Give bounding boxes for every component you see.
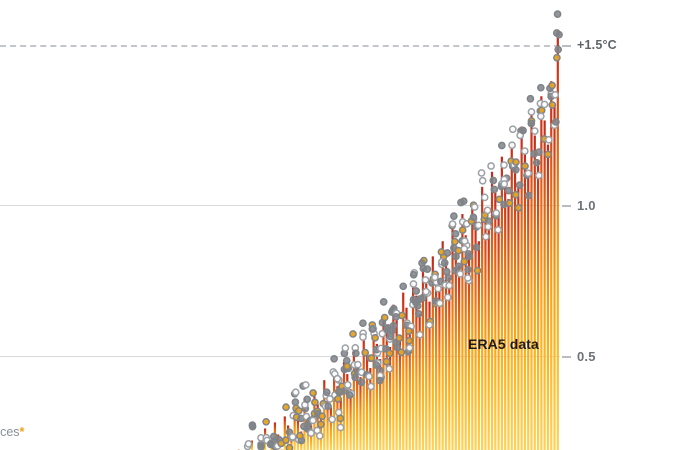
data-point-marker [554,30,560,36]
data-point-marker [263,419,269,425]
data-point-marker [507,200,513,206]
data-point-marker [290,434,296,440]
data-point-marker [444,269,450,275]
data-point-marker [432,274,438,280]
data-point-marker [491,186,497,192]
data-point-marker [490,177,496,183]
data-point-marker [318,421,324,427]
data-point-marker [528,120,534,126]
data-point-marker [549,82,555,88]
data-point-marker [538,85,544,91]
data-point-marker [536,172,542,178]
data-point-marker [372,335,378,341]
data-point-marker [451,213,457,219]
data-point-marker [386,366,392,372]
data-point-marker [538,113,544,119]
data-point-marker [329,416,335,422]
bar [438,290,440,450]
data-point-marker [465,275,471,281]
data-point-marker [368,383,374,389]
bar [507,199,509,450]
data-point-marker [484,207,490,213]
bar [484,208,486,450]
data-point-marker [513,167,519,173]
data-point-marker [292,399,298,405]
data-point-marker [499,142,505,148]
data-point-marker [360,334,366,340]
data-point-marker [417,332,423,338]
data-point-marker [424,266,430,272]
data-point-marker [337,415,343,421]
data-point-marker [368,355,374,361]
data-point-marker [426,322,432,328]
data-point-marker [310,417,316,423]
data-point-marker [475,222,481,228]
data-point-marker [546,137,552,143]
data-point-marker [406,328,412,334]
data-point-marker [527,96,533,102]
chart-figure: +1.5°C 1.0 0.5 ERA5 data ources* [0,0,675,450]
data-point-marker [488,163,494,169]
bar [517,187,519,450]
data-point-marker [449,221,455,227]
data-point-marker [534,160,540,166]
data-point-marker [344,363,350,369]
bar [498,214,500,450]
data-point-marker [515,205,521,211]
data-point-marker [480,178,486,184]
tick-dash-1-0 [562,205,571,207]
data-point-marker [423,289,429,295]
data-point-marker [520,127,526,133]
data-point-marker [296,408,302,414]
tick-dash-0-5 [562,356,571,358]
tick-dash-1-5c [562,45,571,47]
data-point-marker [387,350,393,356]
data-point-marker [335,396,341,402]
data-point-marker [501,162,507,168]
bar [455,247,457,450]
data-point-marker [545,151,551,157]
data-point-marker [317,433,323,439]
data-point-marker [456,263,462,269]
data-point-marker [369,326,375,332]
data-point-marker [334,376,340,382]
data-point-marker [249,424,255,430]
data-point-marker [419,260,425,266]
bar [537,160,539,450]
data-point-marker [536,149,542,155]
bar [343,362,345,450]
data-point-marker [525,170,531,176]
data-point-marker [293,389,299,395]
data-point-marker [446,282,452,288]
data-point-marker [387,333,393,339]
bar [553,105,555,450]
data-point-marker [495,227,501,233]
data-point-marker [360,320,366,326]
data-point-marker [554,55,560,61]
data-point-marker [513,192,519,198]
data-point-marker [470,214,476,220]
data-point-marker [310,390,316,396]
data-point-marker [473,244,479,250]
data-point-marker [549,102,555,108]
bar-series [238,30,559,450]
data-point-marker [438,249,444,255]
axis-label-1-0: 1.0 [577,198,596,213]
data-point-marker [553,119,559,125]
data-point-marker [286,445,292,450]
data-point-marker [552,92,558,98]
data-point-marker [460,227,466,233]
data-point-marker [474,267,480,273]
data-point-marker [483,234,489,240]
data-point-marker [319,413,325,419]
data-point-marker [513,159,519,165]
data-point-marker [478,170,484,176]
data-point-marker [452,231,458,237]
data-point-marker [382,314,388,320]
data-point-marker [390,323,396,329]
data-point-marker [501,181,507,187]
data-point-marker [509,142,515,148]
data-point-marker [324,389,330,395]
plot-area [0,0,675,450]
data-point-marker [522,163,528,169]
data-point-marker [377,377,383,383]
bar [458,265,460,450]
era5-data-label: ERA5 data [468,336,539,352]
data-point-marker [422,277,428,283]
bar [445,262,447,450]
data-point-marker [493,210,499,216]
data-point-marker [358,379,364,385]
data-point-marker [258,442,264,448]
data-point-marker [541,101,547,107]
data-point-marker [416,311,422,317]
data-point-marker [355,362,361,368]
sources-caption: ources* [0,425,24,439]
bar [471,202,473,450]
data-point-marker [308,430,314,436]
data-point-marker [383,359,389,365]
data-point-marker [461,259,467,265]
bar [366,356,368,450]
data-point-marker [485,224,491,230]
data-point-marker [396,335,402,341]
data-point-marker [381,299,387,305]
data-point-marker [435,286,441,292]
data-point-marker [304,396,310,402]
axis-label-0-5: 0.5 [577,349,596,364]
data-point-marker [482,194,488,200]
bar [415,296,417,450]
data-point-marker [522,148,528,154]
sources-caption-asterisk: * [20,425,25,439]
data-point-marker [312,399,318,405]
data-point-marker [444,250,450,256]
data-point-marker [303,382,309,388]
data-point-marker [331,356,337,362]
data-point-marker [532,128,538,134]
bar [504,181,506,450]
data-point-marker [245,441,251,447]
bar [425,284,427,450]
sources-caption-text: ources [0,425,20,439]
data-point-marker [393,314,399,320]
data-point-marker [283,404,289,410]
data-point-marker [400,283,406,289]
data-point-marker [345,382,351,388]
data-point-marker [505,188,511,194]
bar [369,368,371,450]
data-point-marker [452,239,458,245]
data-point-marker [437,300,443,306]
data-point-marker [406,338,412,344]
data-point-marker [399,312,405,318]
data-point-marker [413,288,419,294]
bar [534,136,536,450]
bar [359,377,361,450]
bar [521,126,523,450]
data-point-marker [555,46,561,52]
data-point-marker [445,275,451,281]
data-point-marker [458,199,464,205]
data-point-marker [342,345,348,351]
data-point-marker [325,403,331,409]
data-point-marker [297,433,303,439]
bar [527,172,529,450]
data-point-marker [337,424,343,430]
data-point-marker [353,350,359,356]
data-point-marker [445,294,451,300]
axis-label-1-5c: +1.5°C [577,38,617,52]
data-point-marker [466,253,472,259]
bar [333,371,335,450]
temperature-anomaly-plot [0,0,675,450]
data-point-marker [410,281,416,287]
data-point-marker [442,260,448,266]
data-point-marker [462,238,468,244]
data-point-marker [472,204,478,210]
data-point-marker [554,11,560,17]
data-point-marker [362,350,368,356]
bar [530,111,532,450]
bar [330,407,332,450]
bar [547,145,549,450]
data-point-marker [283,437,289,443]
data-point-marker [406,345,412,351]
data-point-marker [398,349,404,355]
bar [451,229,453,450]
data-point-marker [411,272,417,278]
data-point-marker [465,267,471,273]
data-point-marker [510,126,516,132]
data-point-marker [366,373,372,379]
data-point-marker [457,271,463,277]
data-point-marker [528,109,534,115]
bar [448,277,450,450]
data-point-marker [347,392,353,398]
data-point-marker [350,331,356,337]
data-point-marker [517,182,523,188]
data-point-marker [526,192,532,198]
bar [544,120,546,450]
